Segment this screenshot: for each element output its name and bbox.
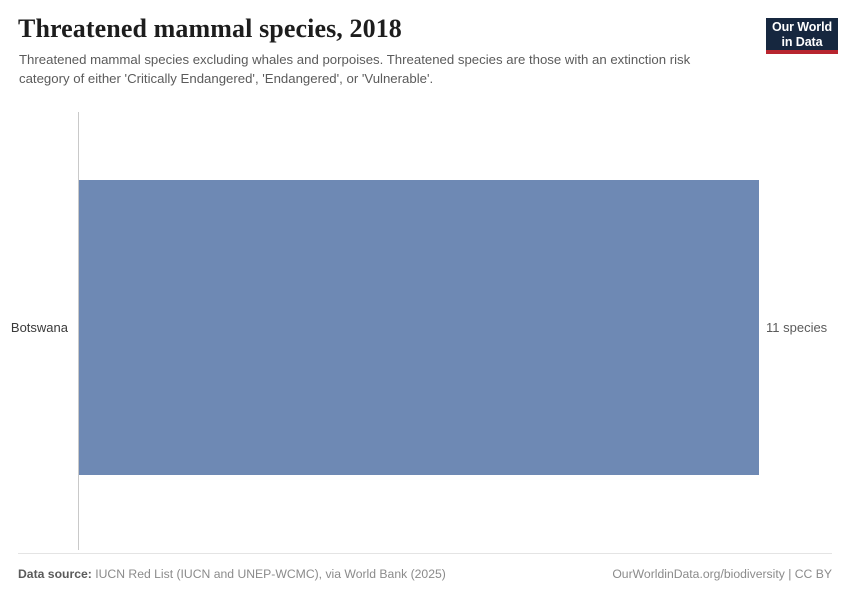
logo-text: Our World in Data [766,20,838,51]
chart-subtitle: Threatened mammal species excluding whal… [19,51,741,88]
bar-value-label: 11 species [766,180,827,475]
logo-line-2: in Data [782,35,823,49]
our-world-in-data-logo[interactable]: Our World in Data [766,18,838,54]
bar-row[interactable]: Botswana 11 species [0,180,850,475]
chart-plot-area: Botswana 11 species [0,100,850,552]
data-source-value: IUCN Red List (IUCN and UNEP-WCMC), via … [95,567,446,581]
attribution-link[interactable]: OurWorldinData.org/biodiversity | CC BY [612,567,832,581]
chart-footer: Data source: IUCN Red List (IUCN and UNE… [0,553,850,600]
logo-line-1: Our World [772,20,832,34]
logo-red-stripe [766,50,838,54]
footer-divider [18,553,832,554]
bar-rect-botswana[interactable] [79,180,759,475]
page-title: Threatened mammal species, 2018 [18,14,738,44]
data-source-note: Data source: IUCN Red List (IUCN and UNE… [18,567,446,581]
bar-category-label: Botswana [0,180,68,475]
data-source-label: Data source: [18,567,92,581]
